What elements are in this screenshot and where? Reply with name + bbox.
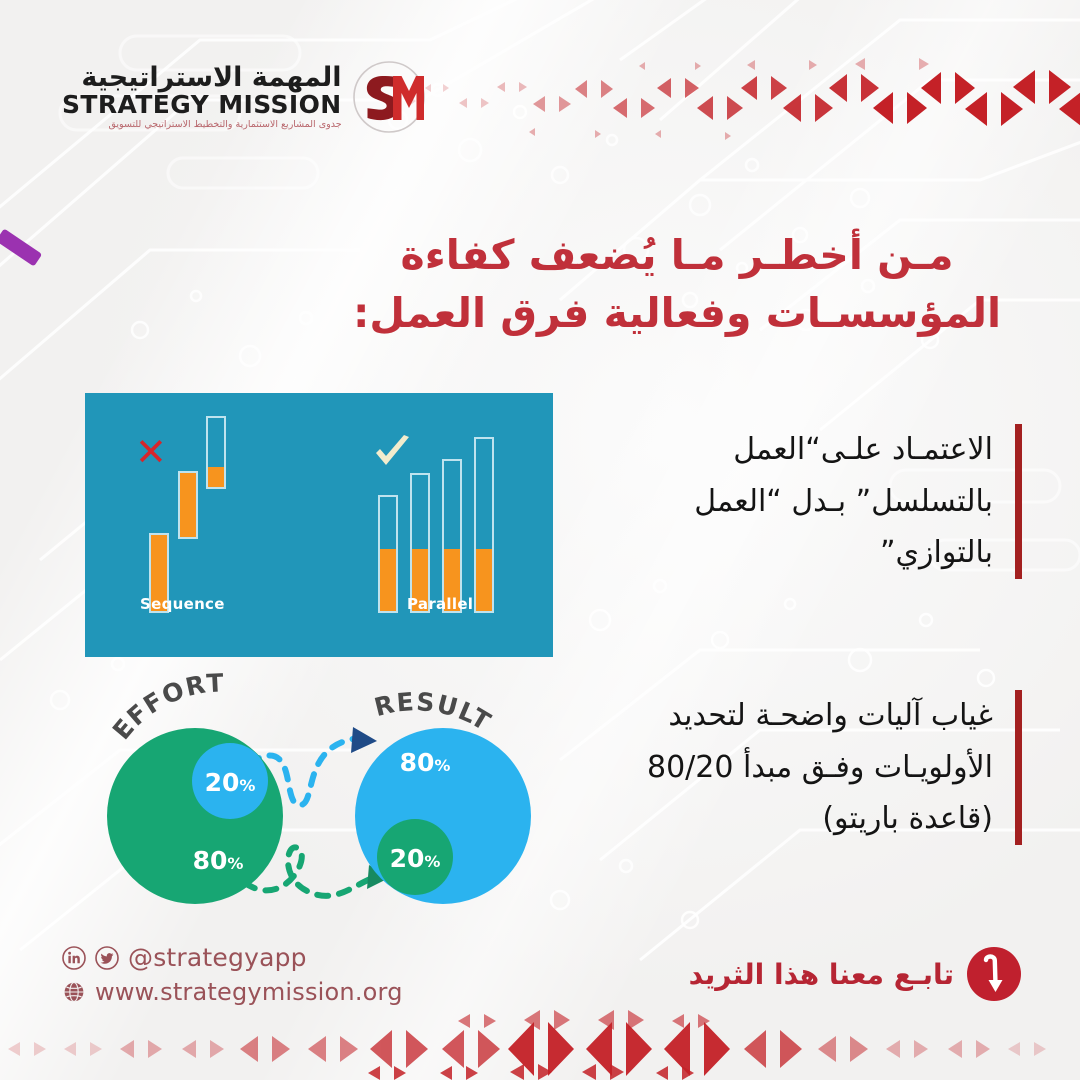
cta-text[interactable]: تابـع معنا هذا الثريد <box>689 958 954 991</box>
sm-monogram-icon <box>352 60 426 134</box>
bullet-item-2: غياب آليات واضحـة لتحديد الأولويـات وفـق… <box>601 690 1022 845</box>
seq-bar-fill-3 <box>208 467 224 487</box>
footer: @strategyapp www.strategymission.org <box>62 943 403 1012</box>
bullet-item-1: الاعتمـاد علـى“العمل بالتسلسل” بـدل “الع… <box>601 424 1022 579</box>
bullet-text-1: الاعتمـاد علـى“العمل بالتسلسل” بـدل “الع… <box>601 424 993 579</box>
brand-logo-text: المهمة الاستراتيجية STRATEGY MISSION جدو… <box>62 64 342 130</box>
headline-line-1: مـن أخطـر مـا يُضعف كفاءة <box>332 226 1022 284</box>
website-row: www.strategymission.org <box>62 978 403 1006</box>
bullet-text-2: غياب آليات واضحـة لتحديد الأولويـات وفـق… <box>601 690 993 845</box>
check-icon <box>373 435 413 473</box>
brand-tagline: جدوى المشاريع الاستثمارية والتخطيط الاست… <box>108 120 341 130</box>
brand-logo: المهمة الاستراتيجية STRATEGY MISSION جدو… <box>62 60 426 134</box>
media-column: ✕ Sequence Parallel EFFORT <box>85 393 553 925</box>
purple-accent-stroke <box>0 228 42 266</box>
linkedin-icon[interactable] <box>62 946 86 970</box>
seq-bar-fill-2 <box>180 473 196 537</box>
social-handle[interactable]: @strategyapp <box>128 943 307 972</box>
twitter-icon[interactable] <box>95 946 119 970</box>
cta-follow-thread[interactable]: تابـع معنا هذا الثريد <box>689 946 1022 1002</box>
page-title: مـن أخطـر مـا يُضعف كفاءة المؤسسـات وفعا… <box>332 226 1022 342</box>
social-row: @strategyapp <box>62 943 403 972</box>
flow-arrowhead-top <box>351 727 377 753</box>
pareto-diagram: EFFORT RESULT 20% 80% 20% 80% <box>85 671 553 921</box>
brand-name-arabic: المهمة الاستراتيجية <box>81 64 341 91</box>
headline-line-2: المؤسسـات وفعالية فرق العمل: <box>332 284 1022 342</box>
sequence-parallel-chart: ✕ Sequence Parallel <box>85 393 553 657</box>
brand-name-english: STRATEGY MISSION <box>62 92 342 117</box>
sequence-label: Sequence <box>140 595 225 613</box>
par-bar-fill-1 <box>380 549 396 611</box>
parallel-label: Parallel <box>407 595 473 613</box>
cross-icon: ✕ <box>135 433 167 471</box>
par-bar-fill-4 <box>476 549 492 611</box>
globe-icon[interactable] <box>62 980 86 1004</box>
arrow-down-circle-icon[interactable] <box>966 946 1022 1002</box>
website-url[interactable]: www.strategymission.org <box>95 978 403 1006</box>
triangle-pattern-bottom <box>0 1008 1080 1080</box>
triangle-pattern-top <box>395 52 1080 148</box>
infographic-canvas: المهمة الاستراتيجية STRATEGY MISSION جدو… <box>0 0 1080 1080</box>
